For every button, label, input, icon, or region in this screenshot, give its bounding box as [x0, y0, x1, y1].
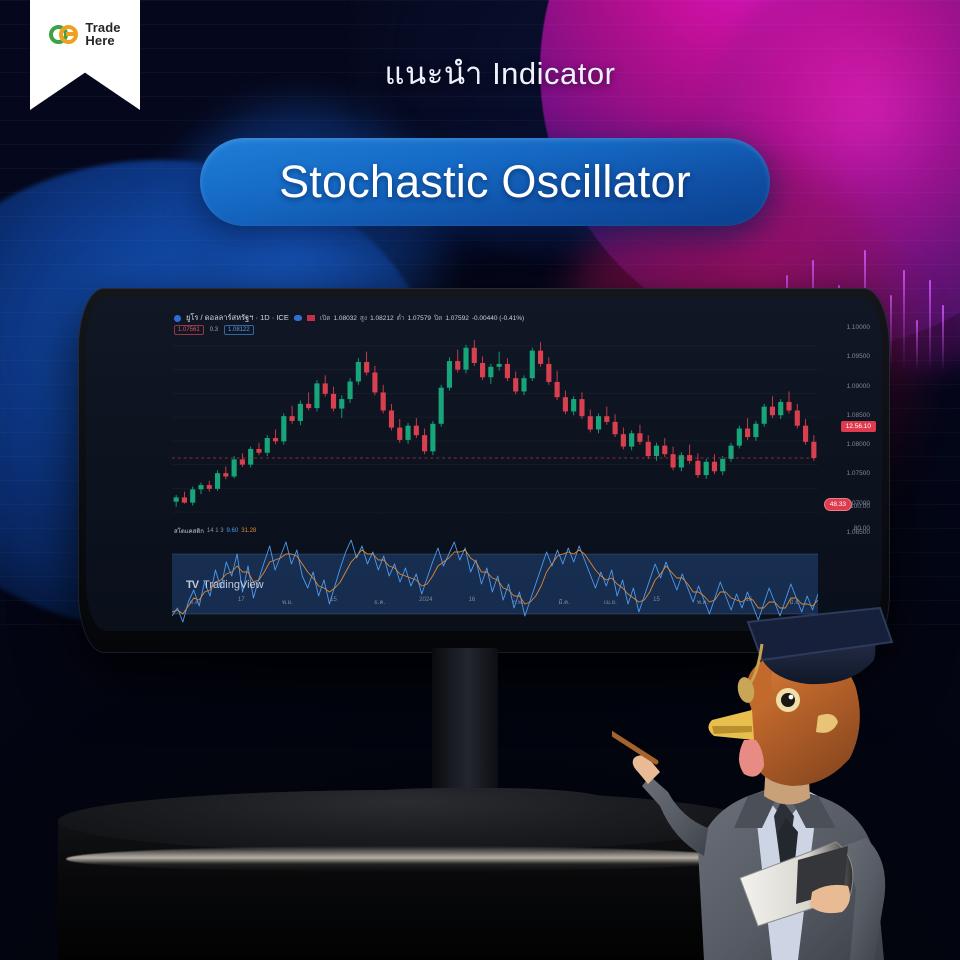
- price-pane[interactable]: [172, 334, 818, 524]
- time-axis-tick: 2024: [419, 597, 432, 603]
- change-value: -0.00440 (-0.41%): [472, 315, 524, 322]
- high-label: สูง: [360, 313, 367, 323]
- gogo-rings-icon: [49, 24, 79, 46]
- price-badge: 12.56.10: [841, 421, 876, 432]
- brand-logo-line2: Here: [85, 35, 120, 48]
- stoch-axis-tick: 80.00: [854, 525, 870, 532]
- time-axis-tick: มี.ค.: [559, 597, 570, 607]
- symbol-title[interactable]: ยูโร / ดอลลาร์สหรัฐฯ · 1D · ICE: [186, 312, 289, 324]
- low-value: 1.07579: [407, 315, 431, 322]
- brand-logo: Trade Here: [49, 22, 120, 47]
- price-axis-tick: 1.09500: [847, 353, 871, 360]
- tradingview-name: TradingView: [203, 579, 264, 591]
- time-axis-tick: ก.พ.: [513, 597, 524, 607]
- symbol-dot-icon: [174, 315, 181, 322]
- stoch-axis-tick: 100.00: [850, 503, 870, 510]
- tradingview-watermark: TV TradingView: [186, 579, 264, 591]
- presenter-illustration: [612, 560, 960, 960]
- presenter-arm-pointer: [612, 726, 708, 856]
- time-axis-tick: 15: [330, 597, 337, 603]
- candlestick-plot: [172, 334, 818, 524]
- high-value: 1.08212: [370, 315, 394, 322]
- time-axis-tick: พ.ย.: [282, 597, 293, 607]
- low-label: ต่ำ: [397, 313, 405, 323]
- time-axis-tick: 17: [238, 597, 245, 603]
- chart-header: ยูโร / ดอลลาร์สหรัฐฯ · 1D · ICE เปิด 1.0…: [174, 312, 524, 324]
- close-label: ปิด: [434, 313, 442, 323]
- price-axis-tick: 1.07500: [847, 470, 871, 477]
- open-value: 1.08032: [333, 315, 357, 322]
- price-axis-tick: 1.08500: [847, 412, 871, 419]
- poster-canvas: Trade Here แนะนำ Indicator Stochastic Os…: [0, 0, 960, 960]
- stochastic-axis[interactable]: 100.0080.00: [822, 503, 870, 563]
- time-axis-tick: ธ.ค.: [374, 597, 385, 607]
- price-axis-tick: 1.08000: [847, 441, 871, 448]
- page-title-pill: Stochastic Oscillator: [200, 138, 770, 226]
- price-axis-tick: 1.10000: [847, 324, 871, 331]
- tradingview-logo-icon: TV: [186, 579, 198, 591]
- mid-tag: 0.3: [207, 326, 221, 334]
- visibility-icon[interactable]: [294, 315, 302, 321]
- brand-logo-text: Trade Here: [85, 22, 120, 47]
- time-axis-tick: 16: [469, 597, 476, 603]
- monitor-stand-neck: [432, 648, 498, 798]
- page-subtitle: แนะนำ Indicator: [0, 48, 960, 98]
- menu-icon[interactable]: [307, 315, 315, 321]
- ohlc-readout: เปิด 1.08032 สูง 1.08212 ต่ำ 1.07579 ปิด…: [320, 313, 524, 323]
- page-title: Stochastic Oscillator: [279, 156, 691, 208]
- open-label: เปิด: [320, 313, 331, 323]
- presenter-mascot: [612, 560, 960, 960]
- price-axis-tick: 1.09000: [847, 383, 871, 390]
- close-value: 1.07592: [445, 315, 469, 322]
- time-axis-tick: ต.ค.: [189, 597, 200, 607]
